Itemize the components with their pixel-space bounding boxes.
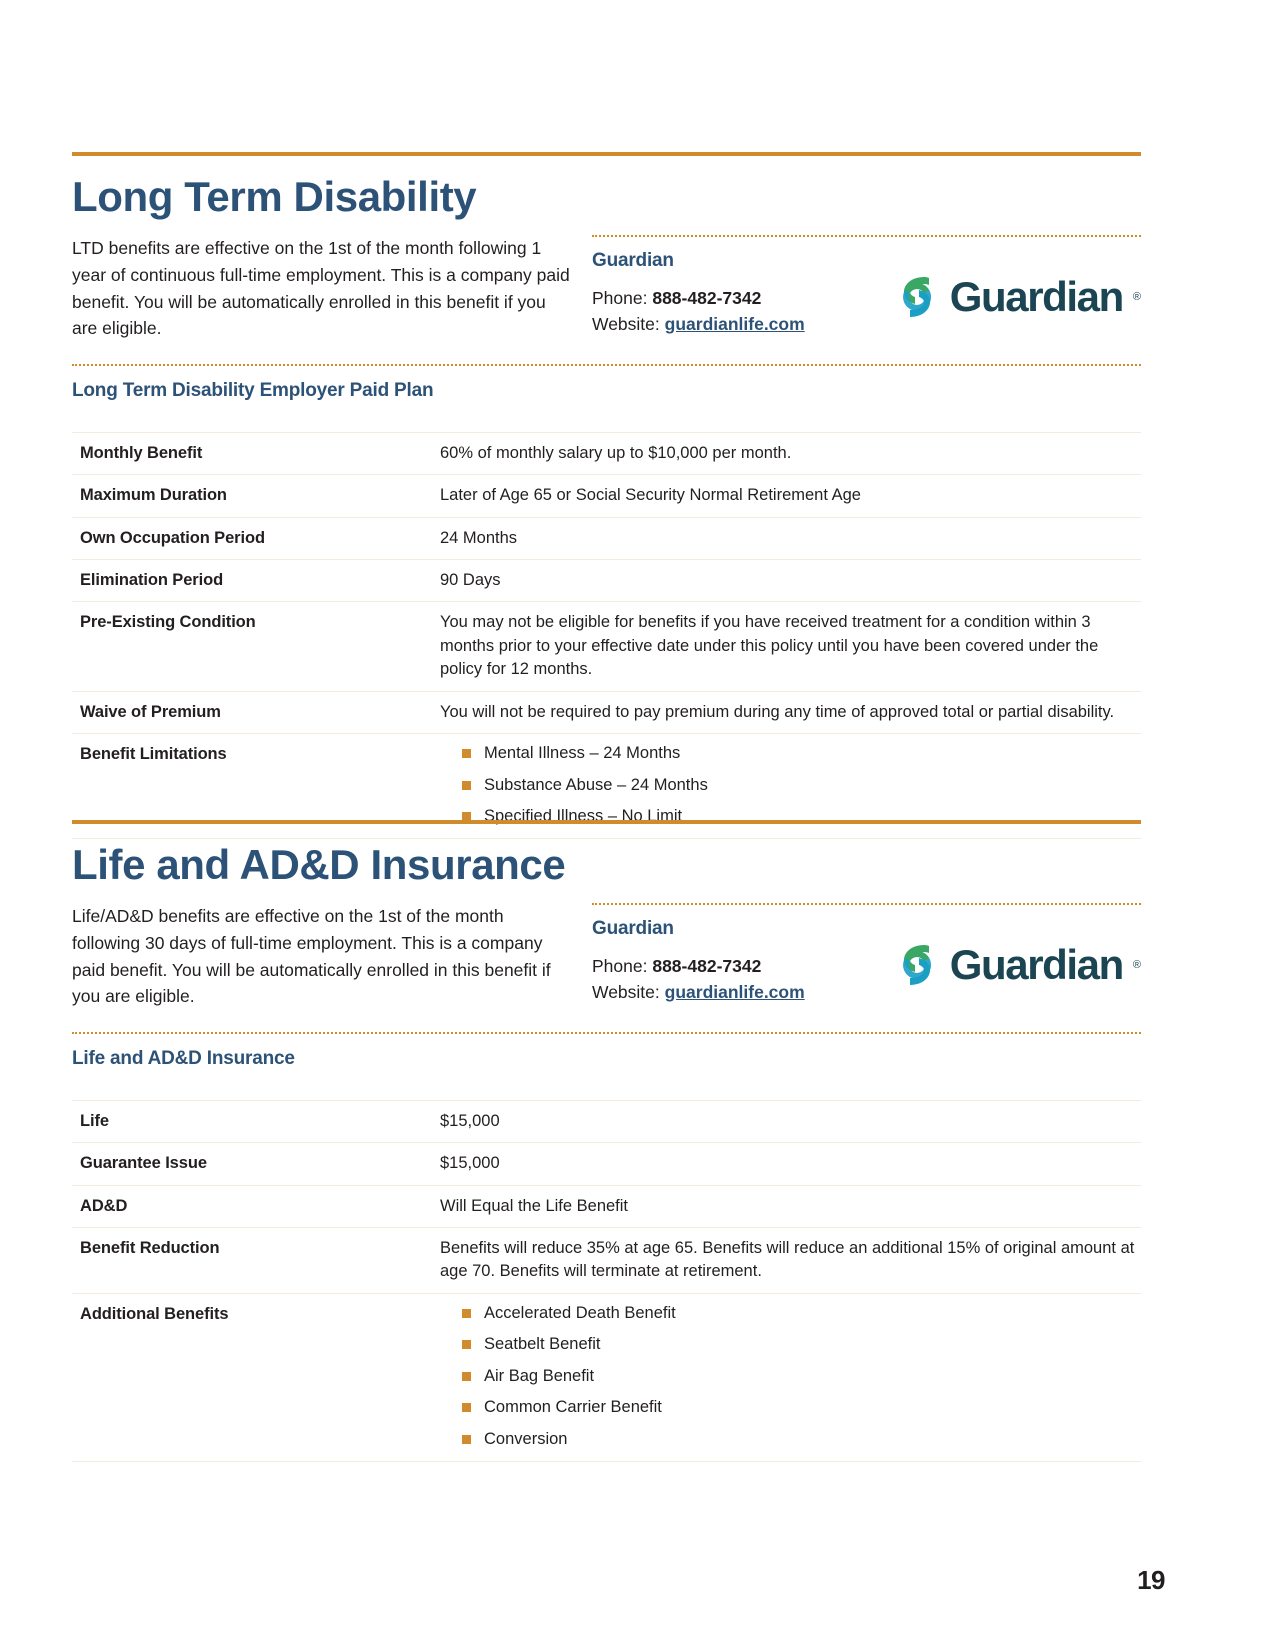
table-row: Waive of Premium You will not be require… — [72, 691, 1141, 733]
table-row: Additional Benefits Accelerated Death Be… — [72, 1293, 1141, 1461]
row-value: Will Equal the Life Benefit — [432, 1185, 1141, 1227]
guardian-logo-life: Guardian ® — [894, 941, 1141, 989]
list-item: Accelerated Death Benefit — [462, 1303, 1135, 1324]
row-value: 24 Months — [432, 517, 1141, 559]
benefit-table-life: Life $15,000 Guarantee Issue $15,000 AD&… — [72, 1100, 1141, 1462]
row-label: Own Occupation Period — [72, 517, 432, 559]
plan-dotted-divider — [72, 1032, 1141, 1034]
website-label: Website: — [592, 314, 660, 334]
square-bullet-icon — [462, 749, 471, 758]
dotted-divider — [592, 235, 1141, 237]
page-number: 19 — [1137, 1565, 1165, 1596]
section-accent-rule — [72, 820, 1141, 824]
list-item: Substance Abuse – 24 Months — [462, 775, 1135, 796]
page-title-life: Life and AD&D Insurance — [72, 842, 1141, 887]
list-item: Conversion — [462, 1429, 1135, 1450]
phone-label: Phone: — [592, 288, 647, 308]
guardian-logo-wordmark: Guardian — [950, 944, 1123, 986]
table-row: Guarantee Issue $15,000 — [72, 1143, 1141, 1185]
row-label: Elimination Period — [72, 560, 432, 602]
carrier-block-life: Guardian Phone: 888-482-7342 Website: gu… — [592, 903, 1141, 1005]
website-link[interactable]: guardianlife.com — [665, 314, 805, 334]
intro-paragraph-life: Life/AD&D benefits are effective on the … — [72, 903, 592, 1009]
list-item: Mental Illness – 24 Months — [462, 743, 1135, 764]
row-value: $15,000 — [432, 1143, 1141, 1185]
page-title-ltd: Long Term Disability — [72, 174, 1141, 219]
table-row: Own Occupation Period 24 Months — [72, 517, 1141, 559]
square-bullet-icon — [462, 1372, 471, 1381]
section-long-term-disability: Long Term Disability LTD benefits are ef… — [72, 152, 1141, 839]
list-item-label: Seatbelt Benefit — [484, 1335, 601, 1353]
bullet-list-benefit-limitations: Mental Illness – 24 Months Substance Abu… — [440, 743, 1135, 827]
document-page: Long Term Disability LTD benefits are ef… — [0, 0, 1275, 1650]
row-label: Guarantee Issue — [72, 1143, 432, 1185]
table-row: Benefit Reduction Benefits will reduce 3… — [72, 1228, 1141, 1294]
list-item: Common Carrier Benefit — [462, 1397, 1135, 1418]
row-label: AD&D — [72, 1185, 432, 1227]
intro-paragraph-ltd: LTD benefits are effective on the 1st of… — [72, 235, 592, 341]
square-bullet-icon — [462, 781, 471, 790]
square-bullet-icon — [462, 1340, 471, 1349]
row-value: You may not be eligible for benefits if … — [432, 602, 1141, 691]
row-label: Benefit Reduction — [72, 1228, 432, 1294]
row-value: 60% of monthly salary up to $10,000 per … — [432, 432, 1141, 474]
guardian-logo-wordmark: Guardian — [950, 276, 1123, 318]
row-value: Benefits will reduce 35% at age 65. Bene… — [432, 1228, 1141, 1294]
dotted-divider — [592, 903, 1141, 905]
phone-label: Phone: — [592, 956, 647, 976]
table-row: Maximum Duration Later of Age 65 or Soci… — [72, 475, 1141, 517]
plan-title-life: Life and AD&D Insurance — [72, 1048, 1141, 1070]
carrier-name-ltd: Guardian — [592, 250, 1141, 272]
list-item: Air Bag Benefit — [462, 1366, 1135, 1387]
phone-value: 888-482-7342 — [652, 288, 761, 308]
phone-value: 888-482-7342 — [652, 956, 761, 976]
carrier-block-ltd: Guardian Phone: 888-482-7342 Website: gu… — [592, 235, 1141, 337]
list-item-label: Mental Illness – 24 Months — [484, 744, 680, 762]
section-accent-rule — [72, 152, 1141, 156]
list-item-label: Accelerated Death Benefit — [484, 1304, 676, 1322]
website-link[interactable]: guardianlife.com — [665, 982, 805, 1002]
guardian-logo-icon — [894, 273, 940, 321]
row-value: You will not be required to pay premium … — [432, 691, 1141, 733]
benefit-table-ltd: Monthly Benefit 60% of monthly salary up… — [72, 432, 1141, 840]
guardian-logo-icon — [894, 941, 940, 989]
row-label: Additional Benefits — [72, 1293, 432, 1461]
row-value: Later of Age 65 or Social Security Norma… — [432, 475, 1141, 517]
registered-mark: ® — [1133, 959, 1141, 971]
intro-row-ltd: LTD benefits are effective on the 1st of… — [72, 235, 1141, 341]
plan-dotted-divider — [72, 364, 1141, 366]
square-bullet-icon — [462, 1309, 471, 1318]
list-item: Seatbelt Benefit — [462, 1334, 1135, 1355]
table-row: Elimination Period 90 Days — [72, 560, 1141, 602]
carrier-name-life: Guardian — [592, 918, 1141, 940]
table-row: AD&D Will Equal the Life Benefit — [72, 1185, 1141, 1227]
list-item-label: Common Carrier Benefit — [484, 1398, 662, 1416]
bullet-list-additional-benefits: Accelerated Death Benefit Seatbelt Benef… — [440, 1303, 1135, 1450]
table-row: Monthly Benefit 60% of monthly salary up… — [72, 432, 1141, 474]
square-bullet-icon — [462, 1435, 471, 1444]
registered-mark: ® — [1133, 291, 1141, 303]
row-value-bullets: Accelerated Death Benefit Seatbelt Benef… — [432, 1293, 1141, 1461]
row-label: Maximum Duration — [72, 475, 432, 517]
row-label: Waive of Premium — [72, 691, 432, 733]
guardian-logo-ltd: Guardian ® — [894, 273, 1141, 321]
website-label: Website: — [592, 982, 660, 1002]
section-life-and-add: Life and AD&D Insurance Life/AD&D benefi… — [72, 820, 1141, 1462]
row-value: $15,000 — [432, 1100, 1141, 1142]
table-row: Life $15,000 — [72, 1100, 1141, 1142]
plan-title-ltd: Long Term Disability Employer Paid Plan — [72, 380, 1141, 402]
intro-row-life: Life/AD&D benefits are effective on the … — [72, 903, 1141, 1009]
row-label: Monthly Benefit — [72, 432, 432, 474]
list-item-label: Substance Abuse – 24 Months — [484, 776, 708, 794]
row-value: 90 Days — [432, 560, 1141, 602]
list-item-label: Conversion — [484, 1430, 567, 1448]
table-row: Pre-Existing Condition You may not be el… — [72, 602, 1141, 691]
row-label: Pre-Existing Condition — [72, 602, 432, 691]
square-bullet-icon — [462, 1403, 471, 1412]
list-item-label: Air Bag Benefit — [484, 1367, 594, 1385]
row-label: Life — [72, 1100, 432, 1142]
